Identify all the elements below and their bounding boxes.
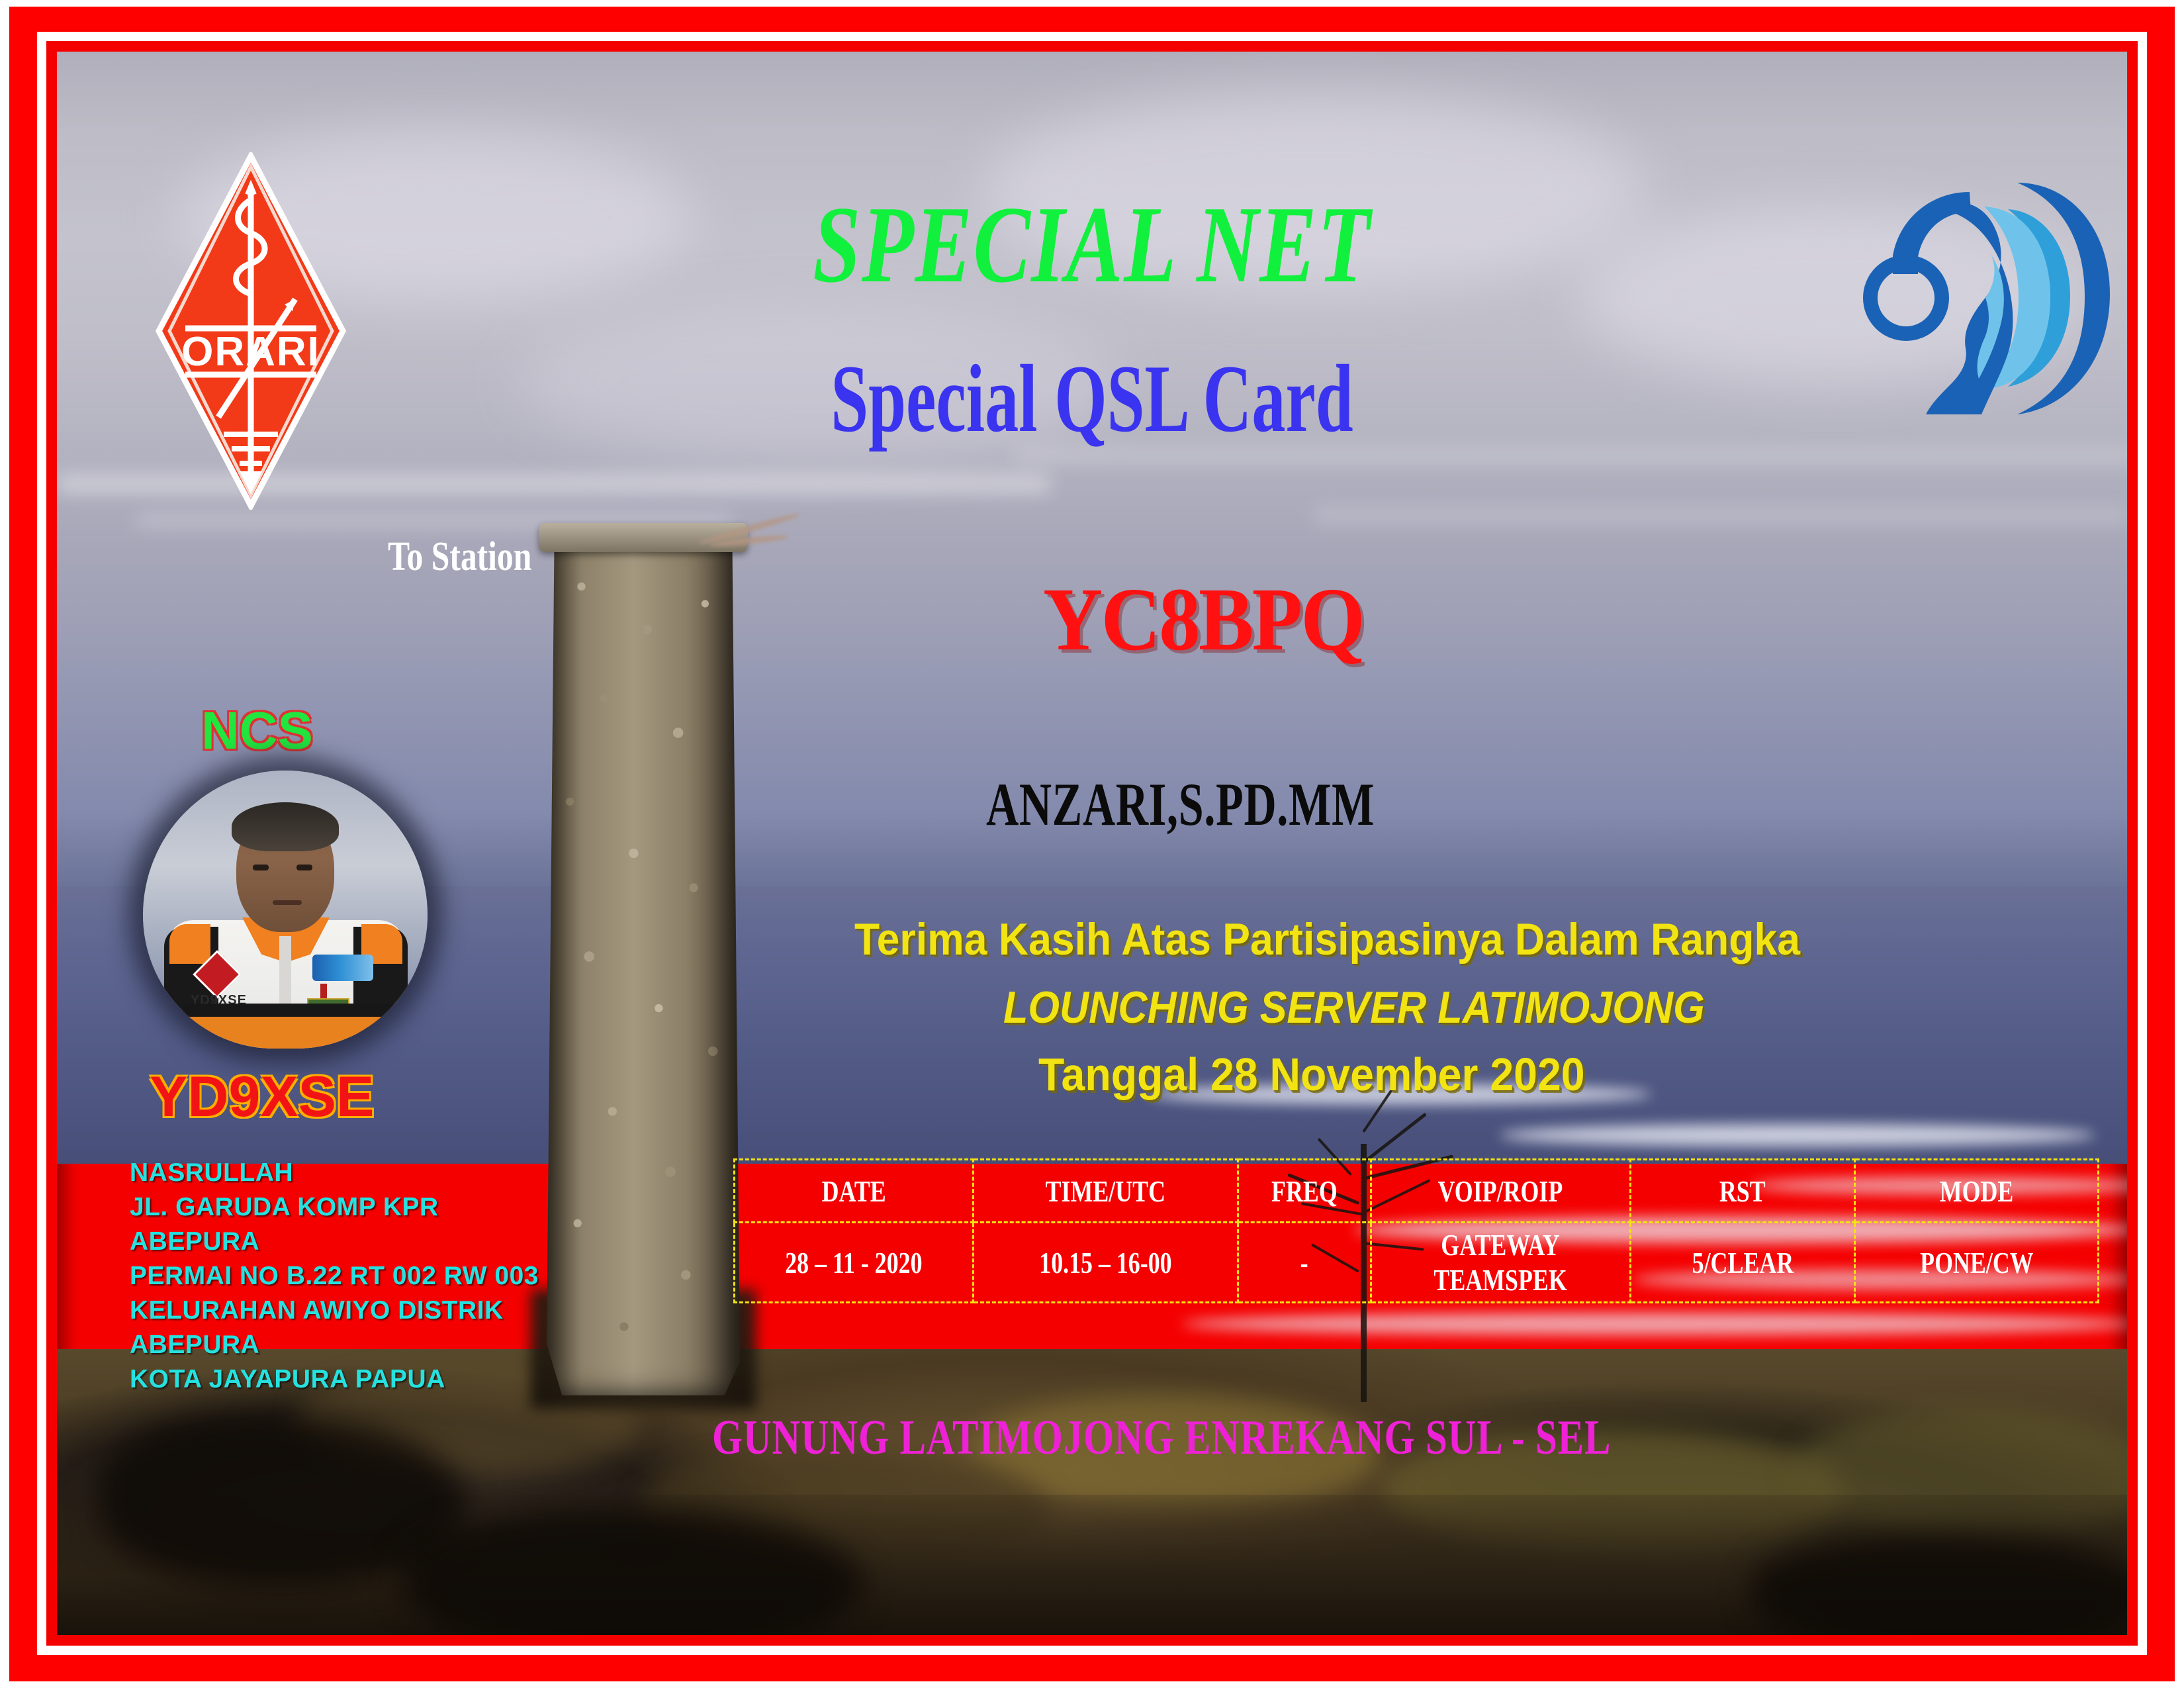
cell-freq: - <box>1238 1223 1371 1303</box>
qsl-card: ORARI SPECIAL NET Special QSL Card To St <box>0 0 2184 1688</box>
table-header-label: DATE <box>822 1174 886 1209</box>
stone-cairn-monument <box>531 508 756 1395</box>
sleeve-left <box>169 924 210 964</box>
ncs-label: NCS <box>201 700 313 761</box>
eye-right <box>296 865 312 870</box>
cell-value: PONE/CW <box>1920 1245 2033 1280</box>
table-header-date: DATE <box>735 1160 974 1223</box>
footer-slogan: "AMATIR RADIO ADALAH PROGRESIVE" <box>136 1626 846 1635</box>
address-line: NASRULLAH <box>130 1156 539 1190</box>
thanks-line-3: Tanggal 28 November 2020 <box>1038 1048 1585 1101</box>
cell-mode: PONE/CW <box>1855 1223 2099 1303</box>
page-subtitle: Special QSL Card <box>367 343 1817 454</box>
cell-rst: 5/CLEAR <box>1630 1223 1855 1303</box>
table-header-rst: RST <box>1630 1160 1855 1223</box>
svg-text:ORARI: ORARI <box>181 329 320 375</box>
dark-rock <box>1751 1534 2127 1635</box>
cell-time: 10.15 – 16-00 <box>974 1223 1238 1303</box>
mist-layer <box>1500 1124 2095 1147</box>
address-line: JL. GARUDA KOMP KPR <box>130 1190 539 1225</box>
cell-value: TEAMSPEK <box>1434 1262 1567 1297</box>
table-header-label: MODE <box>1940 1174 2014 1209</box>
table-header-freq: FREQ <box>1238 1160 1371 1223</box>
qso-log-table: DATE TIME/UTC FREQ VOIP/ROIP RST MODE 28… <box>733 1158 2099 1303</box>
address-line: ABEPURA <box>130 1225 539 1259</box>
thanks-line-2: LOUNCHING SERVER LATIMOJONG <box>1003 982 1705 1033</box>
address-line: PERMAI NO B.22 RT 002 RW 003 <box>130 1259 539 1293</box>
eye-left <box>253 865 269 870</box>
address-line: KELURAHAN AWIYO DISTRIK <box>130 1293 539 1328</box>
table-header-label: VOIP/ROIP <box>1438 1174 1563 1209</box>
operator-photo: YD9XSE <box>143 771 428 1049</box>
cell-value: 10.15 – 16-00 <box>1039 1245 1171 1280</box>
footer-web-address: Address : amatir.latimojong.com <box>1288 1626 1795 1635</box>
thanks-line-1: Terima Kasih Atas Partisipasinya Dalam R… <box>854 914 1800 965</box>
table-header-time: TIME/UTC <box>974 1160 1238 1223</box>
mouth <box>273 900 302 905</box>
table-header-mode: MODE <box>1855 1160 2099 1223</box>
cell-value: 28 – 11 - 2020 <box>786 1245 923 1280</box>
cell-value: GATEWAY <box>1441 1227 1560 1262</box>
cell-value: 5/CLEAR <box>1692 1245 1794 1280</box>
address-line: KOTA JAYAPURA PAPUA <box>130 1362 539 1397</box>
table-header-voip: VOIP/ROIP <box>1371 1160 1630 1223</box>
table-header-row: DATE TIME/UTC FREQ VOIP/ROIP RST MODE <box>735 1160 2099 1223</box>
callsign-text: YC8BPQ <box>1043 568 1363 671</box>
table-header-label: RST <box>1719 1174 1766 1209</box>
belt <box>183 1004 393 1018</box>
hair <box>232 802 339 851</box>
address-block: NASRULLAH JL. GARUDA KOMP KPR ABEPURA PE… <box>130 1156 539 1397</box>
address-line: ABEPURA <box>130 1328 539 1362</box>
uniform-chest-logo <box>312 955 373 981</box>
location-text: GUNUNG LATIMOJONG ENREKANG SUL - SEL <box>712 1410 1611 1466</box>
table-header-label: TIME/UTC <box>1046 1174 1165 1209</box>
cloud-streak <box>1314 508 2127 523</box>
operator-name: ANZARI,S.PD.MM <box>986 769 1375 839</box>
orange-sash <box>172 1017 400 1049</box>
cell-value: - <box>1300 1245 1308 1280</box>
page-title: SPECIAL NET <box>285 181 1899 308</box>
ncs-callsign: YD9XSE <box>150 1064 374 1130</box>
to-station-label: To Station <box>388 534 531 581</box>
cell-voip: GATEWAY TEAMSPEK <box>1371 1223 1630 1303</box>
table-header-label: FREQ <box>1271 1174 1338 1209</box>
background-photograph: ORARI SPECIAL NET Special QSL Card To St <box>57 52 2127 1635</box>
cell-date: 28 – 11 - 2020 <box>735 1223 974 1303</box>
cairn-stonework <box>547 535 740 1395</box>
table-row: 28 – 11 - 2020 10.15 – 16-00 - GATEWAY T… <box>735 1223 2099 1303</box>
